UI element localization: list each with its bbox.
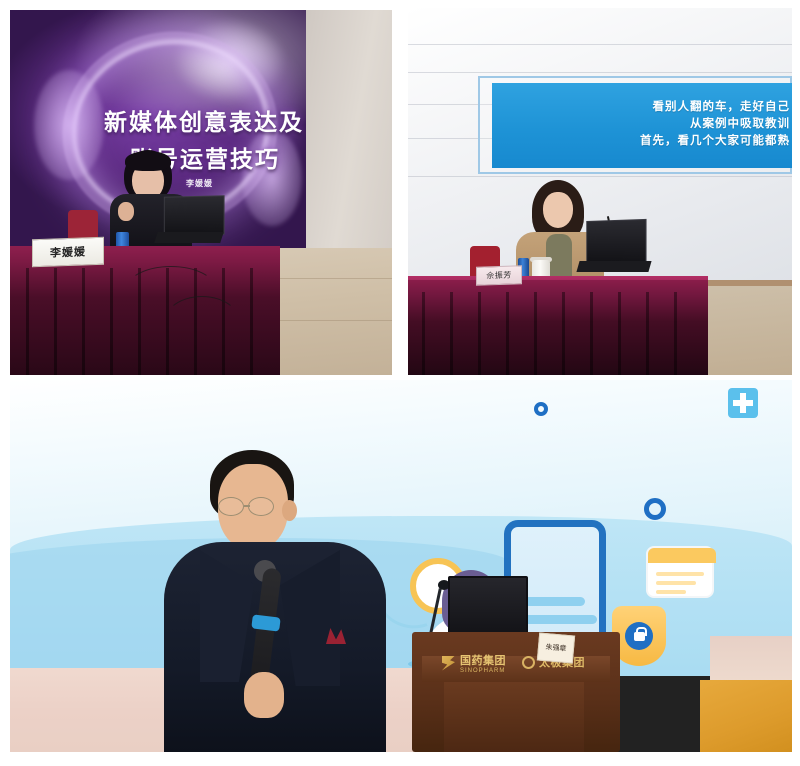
photo-panel-top-right[interactable]: 看别人翻的车，走好自己 从案例中吸取教训 首先，看几个大家可能都熟 — [408, 8, 792, 375]
speaker-hand-panel3 — [244, 672, 284, 718]
energy-filament-left — [34, 70, 104, 180]
nameplate-text-panel1: 李媛媛 — [50, 243, 86, 260]
collage-page: 新媒体创意表达及 账号运营技巧 李媛媛 — [0, 0, 800, 766]
slide-line1-panel2: 看别人翻的车，走好自己 — [500, 99, 790, 116]
taiji-podium-logo-mark — [522, 656, 535, 669]
medical-cross-icon — [728, 388, 758, 418]
slide-title-line1: 新媒体创意表达及 — [104, 103, 304, 137]
laptop-base-panel1 — [154, 232, 224, 243]
cable2-panel1 — [164, 296, 240, 348]
table-skirt-panel2 — [408, 280, 708, 375]
laptop-screen-panel2 — [586, 219, 646, 265]
podium-nameplate: 朱强章 — [537, 632, 575, 663]
slide-line2-panel2: 从案例中吸取教训 — [500, 116, 790, 133]
speaker-ear-panel3 — [282, 500, 297, 521]
laptop-screen-panel1 — [164, 195, 225, 235]
floor-panel2 — [706, 286, 792, 375]
nameplate-text-panel2: 佘振芳 — [486, 270, 512, 282]
podium-laptop — [448, 576, 528, 634]
podium-column — [444, 680, 584, 752]
projection-screen-panel3: S TAIJI — [10, 380, 792, 670]
nameplate-panel2: 佘振芳 — [476, 265, 522, 286]
glasses-bridge — [244, 505, 250, 507]
glasses-left-lens-icon — [218, 497, 244, 516]
gear-icon-2 — [534, 402, 548, 416]
speaker-bangs — [125, 151, 171, 171]
sinopharm-logo-english: SINOPHARM — [460, 668, 506, 674]
speaker-hand — [118, 202, 134, 221]
sinopharm-logo-mark — [442, 656, 455, 671]
sinopharm-logo-chinese: 国药集团 — [460, 652, 506, 668]
speaker-face-panel2 — [543, 192, 573, 228]
speaker-panel3 — [160, 450, 390, 752]
slide-banner-panel2: 看别人翻的车，走好自己 从案例中吸取教训 首先，看几个大家可能都熟 — [492, 83, 792, 168]
nameplate-panel1: 李媛媛 — [32, 237, 104, 268]
sinopharm-logo: 国药集团 SINOPHARM — [442, 652, 506, 674]
laptop-base-panel2 — [576, 261, 651, 272]
lock-icon — [634, 632, 645, 641]
photo-panel-bottom[interactable]: S TAIJI 太极集团 医药人必备 “舆商” 指南 医药企业必备 “舆情防控”… — [10, 380, 792, 752]
podium-nameplate-text: 朱强章 — [545, 642, 567, 654]
glasses-right-lens-icon — [248, 497, 274, 516]
floor-right-panel3 — [700, 680, 792, 752]
shield-lock-icon — [612, 606, 666, 666]
id-card-illustration — [646, 546, 714, 598]
photo-panel-top-left[interactable]: 新媒体创意表达及 账号运营技巧 李媛媛 — [10, 10, 392, 375]
slide-line3-panel2: 首先，看几个大家可能都熟 — [500, 133, 790, 150]
wall-right-panel1 — [306, 10, 392, 248]
gear-icon-1 — [644, 498, 666, 520]
